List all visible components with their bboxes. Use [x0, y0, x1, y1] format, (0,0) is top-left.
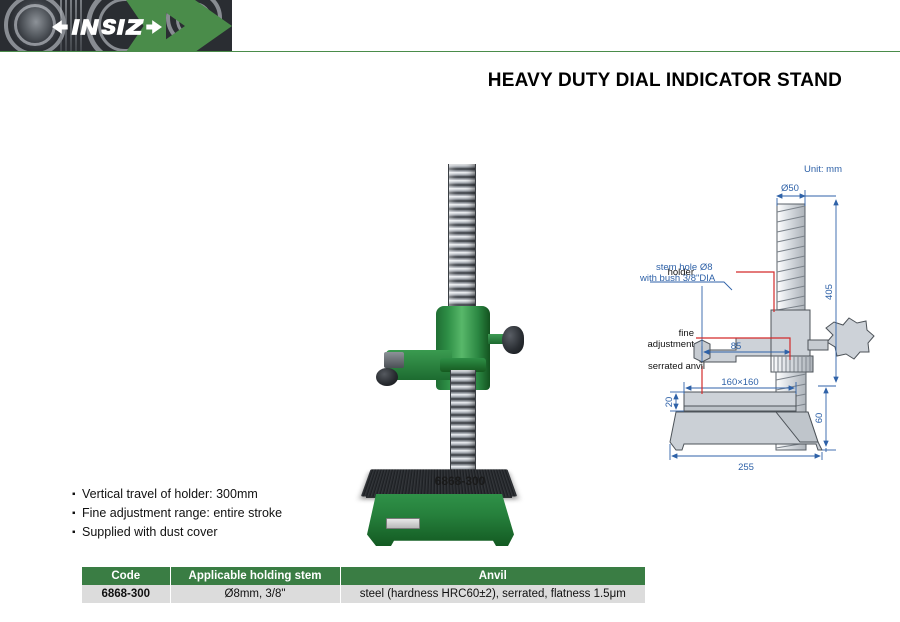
table-header-anvil: Anvil [340, 567, 645, 585]
insize-logo [52, 16, 162, 38]
product-nameplate [386, 518, 420, 529]
product-caption: 6868-300 [340, 474, 580, 488]
table-header-row: Code Applicable holding stem Anvil [82, 567, 645, 585]
cell-anvil: steel (hardness HRC60±2), serrated, flat… [340, 585, 645, 603]
dim-total-height: 405 [824, 284, 835, 300]
bullet-marker-icon: ▪ [72, 525, 82, 540]
dim-anvil-thickness: 20 [664, 397, 675, 408]
technical-drawing: Unit: mm Ø50 85 160×160 405 60 20 255 st… [640, 160, 900, 470]
product-column-upper [448, 164, 476, 318]
specification-table: Code Applicable holding stem Anvil 6868-… [82, 567, 645, 603]
callout-holder: holder [668, 267, 694, 278]
catalog-page: HEAVY DUTY DIAL INDICATOR STAND 6868-300 [0, 0, 900, 622]
callout-serrated-anvil: serrated anvil [648, 361, 705, 372]
table-row: 6868-300 Ø8mm, 3/8" steel (hardness HRC6… [82, 585, 645, 603]
dim-base-width: 255 [738, 462, 754, 470]
list-item: ▪ Vertical travel of holder: 300mm [72, 487, 282, 502]
table-header-code: Code [82, 567, 170, 585]
bullet-marker-icon: ▪ [72, 487, 82, 502]
unit-label: Unit: mm [804, 164, 842, 175]
dim-column-dia: Ø50 [781, 183, 799, 194]
feature-text: Fine adjustment range: entire stroke [82, 506, 282, 521]
callout-fine-adjustment-line2: adjustment [648, 339, 695, 350]
dim-anvil-size: 160×160 [721, 377, 758, 388]
list-item: ▪ Fine adjustment range: entire stroke [72, 506, 282, 521]
cell-stem: Ø8mm, 3/8" [170, 585, 340, 603]
dim-base-height: 60 [814, 413, 825, 424]
table-header-stem: Applicable holding stem [170, 567, 340, 585]
product-clamp-knob-left [376, 368, 398, 386]
page-title: HEAVY DUTY DIAL INDICATOR STAND [488, 70, 842, 92]
feature-list: ▪ Vertical travel of holder: 300mm ▪ Fin… [72, 487, 282, 544]
header-green-rule [0, 51, 900, 52]
page-header [0, 0, 900, 52]
feature-text: Supplied with dust cover [82, 525, 218, 540]
cell-code: 6868-300 [82, 585, 170, 603]
product-clamp-knob-right [488, 326, 522, 354]
dim-reach: 85 [731, 341, 742, 352]
product-photo: 6868-300 [340, 160, 580, 460]
list-item: ▪ Supplied with dust cover [72, 525, 282, 540]
product-stem-clamp [384, 352, 404, 368]
bullet-marker-icon: ▪ [72, 506, 82, 521]
callout-fine-adjustment-line1: fine [679, 328, 694, 339]
feature-text: Vertical travel of holder: 300mm [82, 487, 258, 502]
